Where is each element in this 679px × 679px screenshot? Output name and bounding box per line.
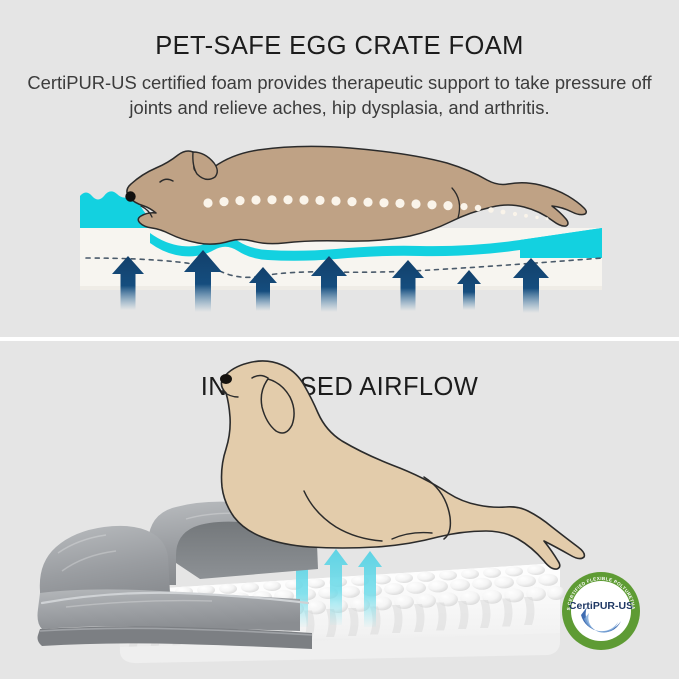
badge-brand-text: CertiPUR-US [569, 600, 633, 612]
illustration-dog-on-foam-cross-section [0, 0, 679, 337]
illustration-dog-on-bolster-bed: CertiPUR-US CONTAINS CERTIFIED FLEXIBLE … [0, 341, 679, 679]
section-increased-airflow: INCREASED AIRFLOW [0, 341, 679, 679]
infographic-page: PET-SAFE EGG CRATE FOAM CertiPUR-US cert… [0, 0, 679, 679]
certipur-us-badge: CertiPUR-US CONTAINS CERTIFIED FLEXIBLE … [562, 572, 640, 650]
section-pet-safe-egg-crate-foam: PET-SAFE EGG CRATE FOAM CertiPUR-US cert… [0, 0, 679, 337]
dog-nose [220, 374, 232, 384]
dog-figure-bottom [220, 361, 584, 569]
dog-nose [125, 191, 135, 201]
